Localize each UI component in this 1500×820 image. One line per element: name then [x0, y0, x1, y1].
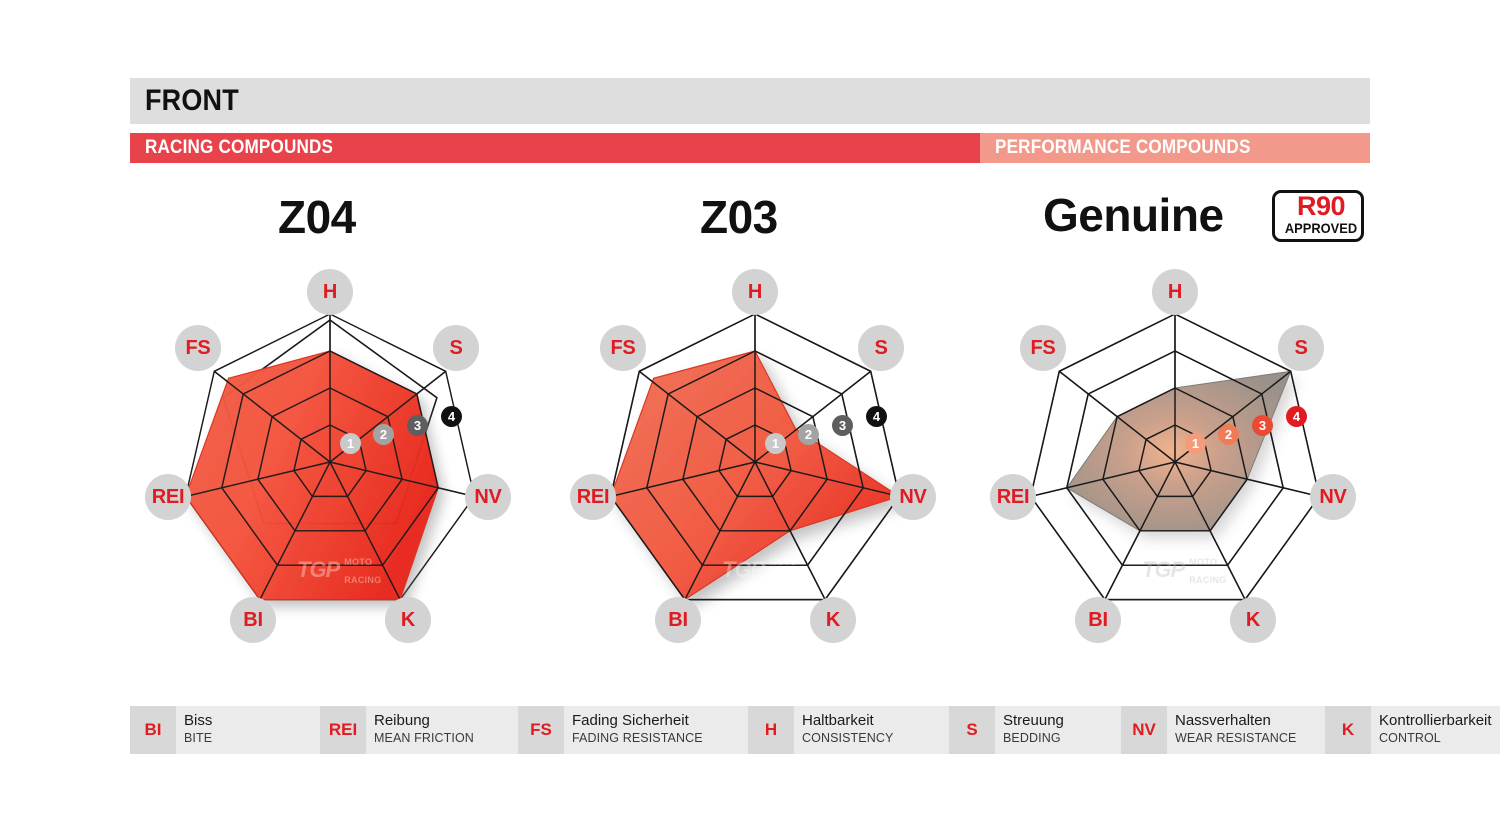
scale-badge-4: 4 [866, 406, 887, 427]
legend-abbr-h: H [748, 706, 794, 754]
axis-label-h[interactable]: H [732, 269, 778, 315]
radar-chart-z03: TGP MOTO RACING H S NV K BI REI FS 1 2 3… [560, 262, 950, 662]
axis-label-fs[interactable]: FS [175, 325, 221, 371]
scale-badge-1: 1 [1185, 433, 1206, 454]
legend-abbr-s: S [949, 706, 995, 754]
scale-badge-2: 2 [798, 424, 819, 445]
r90-approved-badge: R90 APPROVED [1272, 190, 1364, 242]
legend-abbr-fs: FS [518, 706, 564, 754]
r90-label: R90 [1275, 192, 1367, 221]
legend-abbr-k: K [1325, 706, 1371, 754]
legend-en-fs: FADING RESISTANCE [572, 730, 738, 746]
legend-item-bi: BI Biss BITE [130, 706, 320, 754]
scale-badge-1: 1 [765, 433, 786, 454]
legend-text-h: Haltbarkeit CONSISTENCY [794, 706, 949, 754]
legend-item-nv: NV Nassverhalten WEAR RESISTANCE [1121, 706, 1325, 754]
axis-label-nv[interactable]: NV [1310, 474, 1356, 520]
axis-label-rei[interactable]: REI [570, 474, 616, 520]
axis-label-s[interactable]: S [858, 325, 904, 371]
scale-badge-3: 3 [407, 415, 428, 436]
axis-label-s[interactable]: S [1278, 325, 1324, 371]
racing-compounds-label: RACING COMPOUNDS [145, 137, 333, 159]
axis-label-fs[interactable]: FS [1020, 325, 1066, 371]
scale-badge-4: 4 [1286, 406, 1307, 427]
radar-web-overlay-genuine [1031, 314, 1320, 600]
legend-text-bi: Biss BITE [176, 706, 320, 754]
legend-de-h: Haltbarkeit [802, 711, 939, 730]
legend-item-fs: FS Fading Sicherheit FADING RESISTANCE [518, 706, 748, 754]
radar-web-overlay-z03 [611, 314, 900, 600]
radar-chart-z04: TGP MOTO RACING H S NV K BI REI FS 1 2 3… [135, 262, 525, 662]
axis-label-h[interactable]: H [307, 269, 353, 315]
scale-badge-3: 3 [1252, 415, 1273, 436]
legend-item-h: H Haltbarkeit CONSISTENCY [748, 706, 949, 754]
radar-chart-genuine: TGP MOTO RACING H S NV K BI REI FS 1 2 3… [980, 262, 1370, 662]
axis-label-bi[interactable]: BI [230, 597, 276, 643]
axis-label-nv[interactable]: NV [890, 474, 936, 520]
legend-en-bi: BITE [184, 730, 310, 746]
legend-item-s: S Streuung BEDDING [949, 706, 1121, 754]
scale-badge-4: 4 [441, 406, 462, 427]
front-header-bar: FRONT [130, 78, 1370, 124]
radar-svg-z04 [135, 262, 525, 662]
legend-en-h: CONSISTENCY [802, 730, 939, 746]
performance-compounds-label: PERFORMANCE COMPOUNDS [995, 137, 1251, 159]
legend-de-rei: Reibung [374, 711, 508, 730]
compound-header-bar: RACING COMPOUNDS PERFORMANCE COMPOUNDS [130, 133, 1370, 163]
legend-text-nv: Nassverhalten WEAR RESISTANCE [1167, 706, 1325, 754]
scale-badge-3: 3 [832, 415, 853, 436]
legend-de-k: Kontrollierbarkeit [1379, 711, 1500, 730]
axis-label-s[interactable]: S [433, 325, 479, 371]
legend-de-s: Streuung [1003, 711, 1111, 730]
legend-text-k: Kontrollierbarkeit CONTROL [1371, 706, 1500, 754]
legend-de-fs: Fading Sicherheit [572, 711, 738, 730]
legend-de-bi: Biss [184, 711, 310, 730]
chart-title-genuine: Genuine [1043, 188, 1224, 242]
axis-label-h[interactable]: H [1152, 269, 1198, 315]
scale-badge-2: 2 [373, 424, 394, 445]
legend-en-k: CONTROL [1379, 730, 1500, 746]
position-label: FRONT [145, 84, 239, 118]
radar-series-genuine [1067, 371, 1291, 531]
legend-item-k: K Kontrollierbarkeit CONTROL [1325, 706, 1500, 754]
legend-text-rei: Reibung MEAN FRICTION [366, 706, 518, 754]
legend-abbr-bi: BI [130, 706, 176, 754]
legend-en-rei: MEAN FRICTION [374, 730, 508, 746]
legend-abbr-nv: NV [1121, 706, 1167, 754]
legend-en-nv: WEAR RESISTANCE [1175, 730, 1315, 746]
radar-svg-z03 [560, 262, 950, 662]
performance-compounds-segment: PERFORMANCE COMPOUNDS [980, 133, 1370, 163]
r90-approved-label: APPROVED [1279, 220, 1364, 236]
axis-label-k[interactable]: K [1230, 597, 1276, 643]
radar-svg-genuine [980, 262, 1370, 662]
axis-label-bi[interactable]: BI [655, 597, 701, 643]
chart-title-z04: Z04 [278, 190, 356, 244]
axis-label-k[interactable]: K [810, 597, 856, 643]
legend-abbr-rei: REI [320, 706, 366, 754]
chart-title-z03: Z03 [700, 190, 778, 244]
legend-item-rei: REI Reibung MEAN FRICTION [320, 706, 518, 754]
axis-label-bi[interactable]: BI [1075, 597, 1121, 643]
scale-badge-2: 2 [1218, 424, 1239, 445]
racing-compounds-segment: RACING COMPOUNDS [130, 133, 980, 163]
legend-bar: BI Biss BITE REI Reibung MEAN FRICTION F… [130, 706, 1370, 754]
legend-text-fs: Fading Sicherheit FADING RESISTANCE [564, 706, 748, 754]
axis-label-nv[interactable]: NV [465, 474, 511, 520]
radar-series-z04 [186, 351, 439, 600]
poster-root: FRONT RACING COMPOUNDS PERFORMANCE COMPO… [0, 0, 1500, 820]
scale-badge-1: 1 [340, 433, 361, 454]
axis-label-fs[interactable]: FS [600, 325, 646, 371]
axis-label-k[interactable]: K [385, 597, 431, 643]
legend-de-nv: Nassverhalten [1175, 711, 1315, 730]
legend-en-s: BEDDING [1003, 730, 1111, 746]
legend-text-s: Streuung BEDDING [995, 706, 1121, 754]
axis-label-rei[interactable]: REI [990, 474, 1036, 520]
axis-label-rei[interactable]: REI [145, 474, 191, 520]
